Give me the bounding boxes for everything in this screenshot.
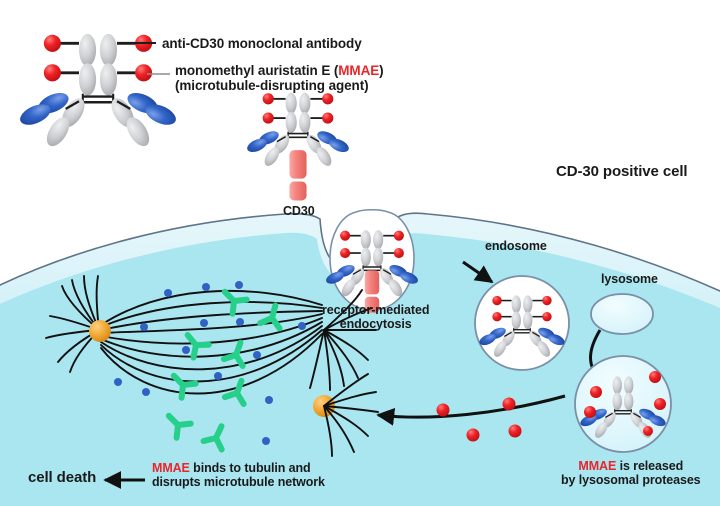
legend-mmae-label: monomethyl auristatin E (MMAE) (microtub… bbox=[175, 63, 384, 93]
receptor-mediated-endocytosis-label: receptor-mediated endocytosis bbox=[322, 303, 429, 331]
lysosome-label: lysosome bbox=[601, 272, 658, 286]
lysosome bbox=[591, 294, 653, 334]
cd30-receptor-surface bbox=[289, 150, 306, 200]
legend-antibody-label: anti-CD30 monoclonal antibody bbox=[162, 36, 362, 51]
cell-name-label: CD-30 positive cell bbox=[556, 164, 687, 181]
mmae-keyword-binds: MMAE bbox=[152, 461, 190, 475]
cell-death-label: cell death bbox=[28, 470, 96, 487]
endosome-label: endosome bbox=[485, 239, 547, 253]
mmae-keyword-release: MMAE bbox=[578, 459, 616, 473]
legend-adc-molecule bbox=[17, 34, 179, 150]
mmae-binds-tubulin-label: MMAE binds to tubulin and disrupts micro… bbox=[152, 461, 325, 489]
mmae-release-label: MMAE is released by lysosomal proteases bbox=[561, 459, 701, 487]
endosome bbox=[475, 276, 569, 370]
cd30-receptor-label: CD30 bbox=[283, 204, 315, 218]
legend-mmae-sublabel: (microtubule-disrupting agent) bbox=[175, 78, 384, 93]
figure-canvas: anti-CD30 monoclonal antibody monomethyl… bbox=[0, 0, 720, 506]
centrosome-left bbox=[89, 320, 111, 342]
mmae-keyword: MMAE bbox=[338, 63, 379, 78]
